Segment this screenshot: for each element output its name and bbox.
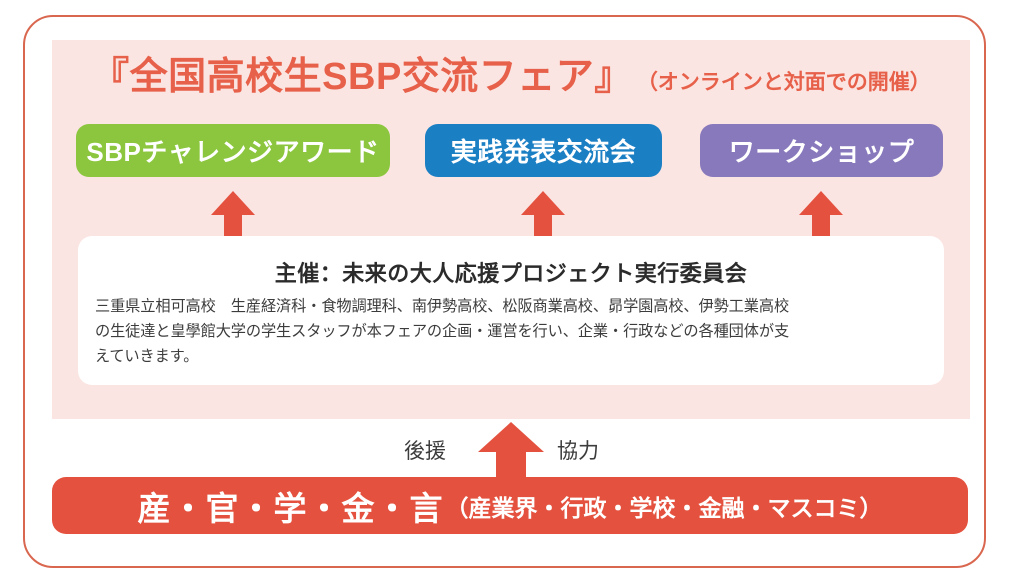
organizer-card: 主催：未来の大人応援プロジェクト実行委員会 三重県立相可高校 生産経済科・食物調… [78, 236, 944, 385]
arrow-up-icon-to-workshop [798, 190, 844, 236]
poster-canvas: 『全国高校生SBP交流フェア』 （オンラインと対面での開催） SBPチャレンジア… [0, 0, 1020, 583]
category-box-challenge-award[interactable]: SBPチャレンジアワード [76, 124, 390, 177]
stakeholders-main-text: 産・官・学・金・言 [138, 482, 444, 530]
category-label-presentation-exchange: 実践発表交流会 [451, 132, 637, 169]
support-label-kyoryoku: 協力 [557, 435, 599, 465]
stakeholders-bar[interactable]: 産・官・学・金・言 （産業界・行政・学校・金融・マスコミ） [52, 477, 968, 534]
title-main-text: 『全国高校生SBP交流フェア』 [91, 58, 633, 96]
organizer-body: 三重県立相可高校 生産経済科・食物調理科、南伊勢高校、松阪商業高校、昴学園高校、… [95, 294, 933, 369]
organizer-heading: 主催：未来の大人応援プロジェクト実行委員会 [78, 256, 944, 288]
category-box-workshop[interactable]: ワークショップ [700, 124, 943, 177]
arrow-up-icon-to-presentation-exchange [520, 190, 566, 236]
support-row: 後援 協力 [52, 425, 970, 477]
arrow-up-icon-support [478, 422, 544, 480]
organizer-body-line-1: 三重県立相可高校 生産経済科・食物調理科、南伊勢高校、松阪商業高校、昴学園高校、… [95, 294, 933, 319]
organizer-body-line-2: の生徒達と皇學館大学の学生スタッフが本フェアの企画・運営を行い、企業・行政などの… [95, 319, 933, 344]
organizer-body-line-3: えていきます。 [95, 344, 933, 369]
category-label-workshop: ワークショップ [729, 132, 915, 169]
title-sub-text: （オンラインと対面での開催） [637, 72, 931, 93]
stakeholders-sub-text: （産業界・行政・学校・金融・マスコミ） [446, 489, 883, 523]
support-label-koen: 後援 [404, 435, 446, 465]
category-label-challenge-award: SBPチャレンジアワード [86, 132, 379, 169]
poster-title: 『全国高校生SBP交流フェア』 （オンラインと対面での開催） [52, 58, 970, 110]
arrow-up-icon-to-challenge-award [210, 190, 256, 236]
category-box-presentation-exchange[interactable]: 実践発表交流会 [425, 124, 662, 177]
